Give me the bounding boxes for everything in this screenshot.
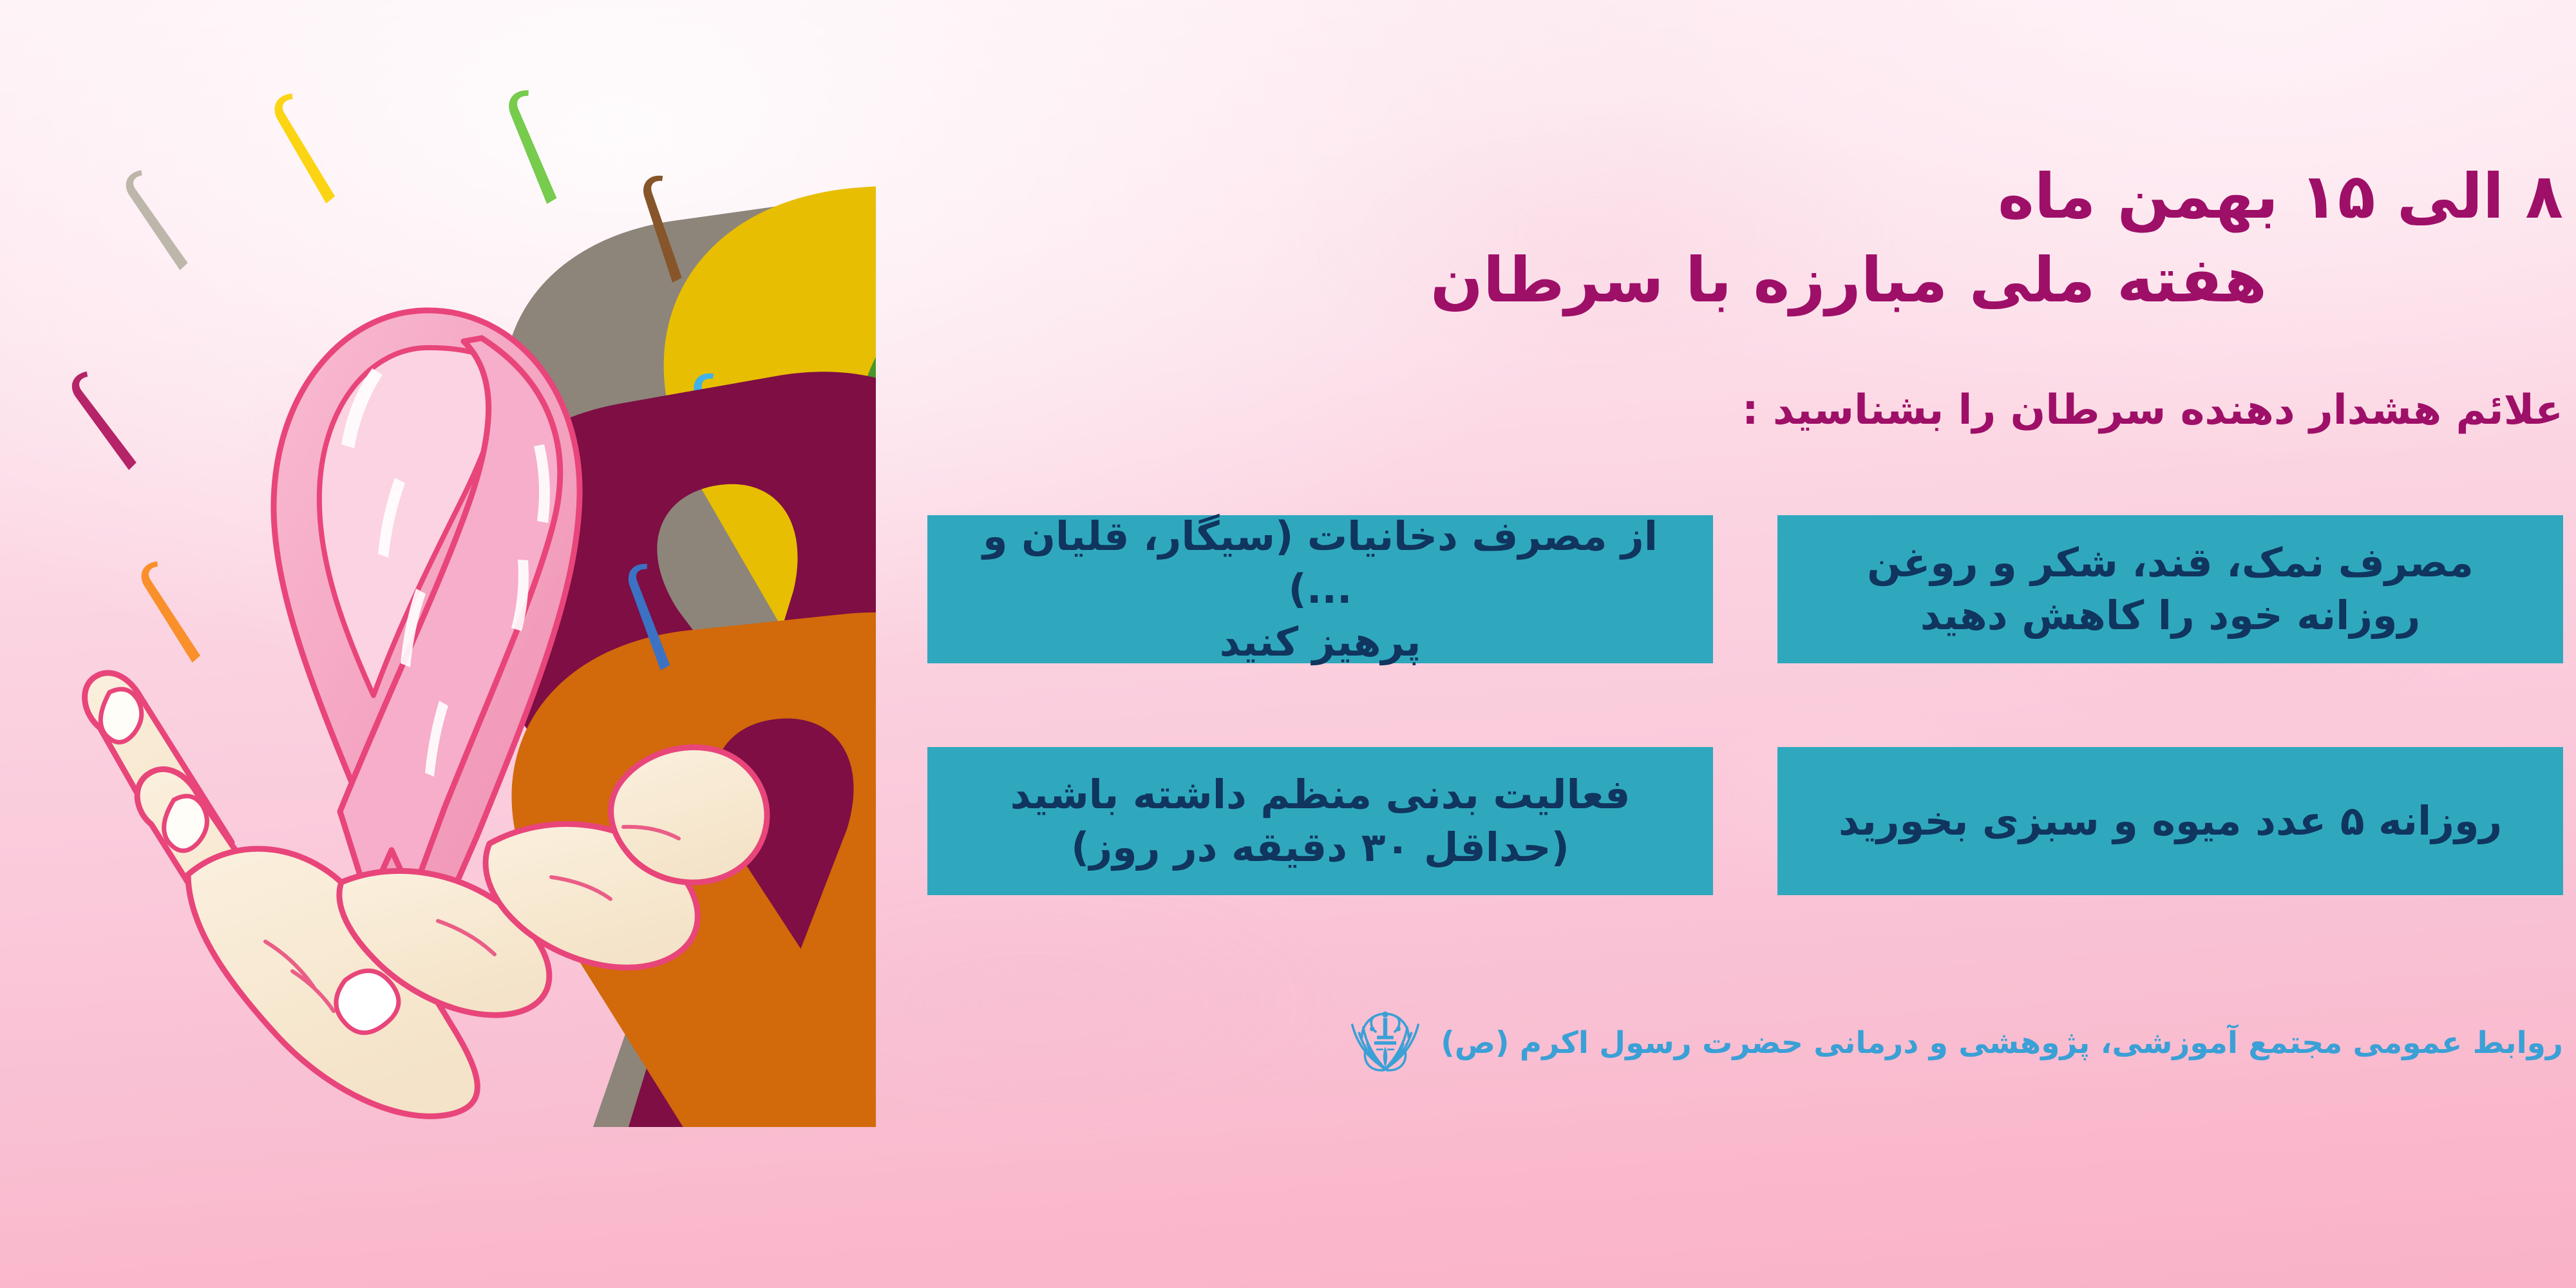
tip-line-1: فعالیت بدنی منظم داشته باشید: [1010, 768, 1631, 821]
tip-card-reduce-salt-sugar-oil: مصرف نمک، قند، شکر و روغن روزانه خود را …: [1777, 515, 2563, 663]
tip-line-1: روزانه ۵ عدد میوه و سبزی بخورید: [1839, 795, 2502, 848]
tip-line-2: پرهیز کنید: [945, 616, 1695, 668]
page-title-line2: هفته ملی مبارزه با سرطان: [1430, 248, 2267, 313]
poster-canvas: ۸ الی ۱۵ بهمن ماه هفته ملی مبارزه با سرط…: [0, 0, 2576, 1288]
tip-line-1: از مصرف دخانیات (سیگار، قلیان و ...): [945, 510, 1695, 616]
tip-line-2: (حداقل ۳۰ دقیقه در روز): [1010, 821, 1631, 874]
tip-line-2: روزانه خود را کاهش دهید: [1867, 589, 2474, 642]
tip-card-regular-physical-activity: فعالیت بدنی منظم داشته باشید (حداقل ۳۰ د…: [927, 747, 1713, 895]
footer: روابط عمومی مجتمع آموزشی، پژوهشی و درمان…: [1344, 1001, 2563, 1084]
hand-holding-awareness-ribbons-illustration: [39, 45, 876, 1127]
page-title-line1: ۸ الی ۱۵ بهمن ماه: [1998, 164, 2563, 229]
tips-grid: مصرف نمک، قند، شکر و روغن روزانه خود را …: [889, 515, 2563, 895]
tip-card-avoid-tobacco: از مصرف دخانیات (سیگار، قلیان و ...) پره…: [927, 515, 1713, 663]
ministry-of-health-emblem-icon: [1344, 1001, 1426, 1084]
tip-card-eat-fruit-vegetables: روزانه ۵ عدد میوه و سبزی بخورید: [1777, 747, 2563, 895]
content-column: ۸ الی ۱۵ بهمن ماه هفته ملی مبارزه با سرط…: [889, 0, 2576, 1288]
subheading: علائم هشدار دهنده سرطان را بشناسید :: [1742, 386, 2563, 434]
tip-line-1: مصرف نمک، قند، شکر و روغن: [1867, 536, 2474, 589]
footer-caption: روابط عمومی مجتمع آموزشی، پژوهشی و درمان…: [1441, 1025, 2563, 1061]
